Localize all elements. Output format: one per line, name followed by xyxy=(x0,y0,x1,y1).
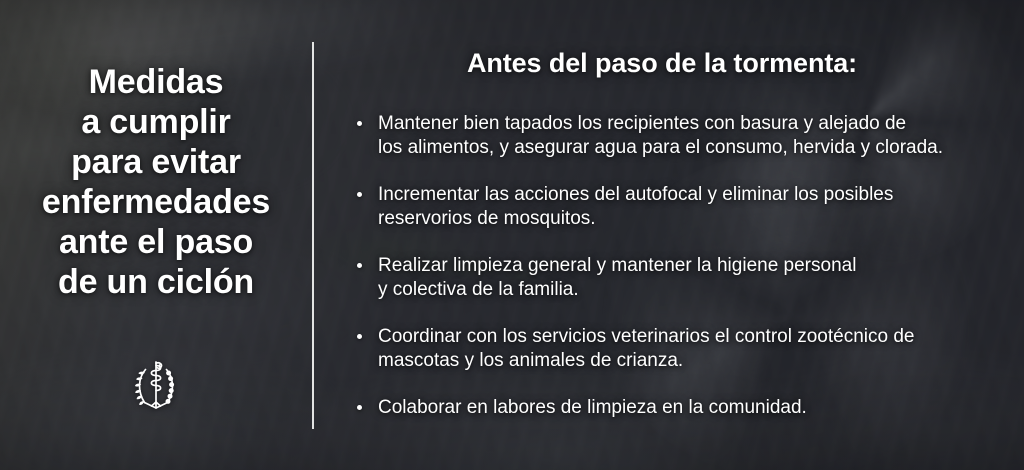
headline-line-4: enfermedades xyxy=(8,182,304,222)
headline-line-2: a cumplir xyxy=(8,102,304,142)
headline-line-1: Medidas xyxy=(8,62,304,102)
bullet-dot-icon xyxy=(357,192,362,197)
bullet-dot-icon xyxy=(357,263,362,268)
list-item-line: reservorios de mosquitos. xyxy=(378,207,1010,231)
headline-line-5: ante el paso xyxy=(8,222,304,262)
list-item-line: Colaborar en labores de limpieza en la c… xyxy=(378,396,1010,420)
bullet-dot-icon xyxy=(357,405,362,410)
poster-headline: Medidas a cumplir para evitar enfermedad… xyxy=(0,62,312,302)
list-item: Colaborar en labores de limpieza en la c… xyxy=(346,396,1010,420)
list-item: Mantener bien tapados los recipientes co… xyxy=(346,112,1010,160)
headline-line-6: de un ciclón xyxy=(8,262,304,302)
left-panel: Medidas a cumplir para evitar enfermedad… xyxy=(0,0,312,470)
bullet-dot-icon xyxy=(357,334,362,339)
list-item: Incrementar las acciones del autofocal y… xyxy=(346,183,1010,231)
headline-line-3: para evitar xyxy=(8,142,304,182)
list-item: Coordinar con los servicios veterinarios… xyxy=(346,325,1010,373)
list-item-line: y colectiva de la familia. xyxy=(378,278,1010,302)
list-item-line: Realizar limpieza general y mantener la … xyxy=(378,254,1010,278)
bullet-dot-icon xyxy=(357,121,362,126)
poster: Medidas a cumplir para evitar enfermedad… xyxy=(0,0,1024,470)
list-item-line: Coordinar con los servicios veterinarios… xyxy=(378,325,1010,349)
poster-content: Medidas a cumplir para evitar enfermedad… xyxy=(0,0,1024,470)
list-item-line: Incrementar las acciones del autofocal y… xyxy=(378,183,1010,207)
list-item-line: los alimentos, y asegurar agua para el c… xyxy=(378,136,1010,160)
right-panel: Antes del paso de la tormenta: Mantener … xyxy=(330,0,1024,470)
list-item-line: Mantener bien tapados los recipientes co… xyxy=(378,112,1010,136)
list-item-line: mascotas y los animales de crianza. xyxy=(378,349,1010,373)
asclepius-laurel-emblem-icon xyxy=(124,352,188,416)
section-title: Antes del paso de la tormenta: xyxy=(330,48,994,79)
measures-list: Mantener bien tapados los recipientes co… xyxy=(346,112,1010,420)
list-item: Realizar limpieza general y mantener la … xyxy=(346,254,1010,302)
vertical-divider xyxy=(312,42,314,429)
